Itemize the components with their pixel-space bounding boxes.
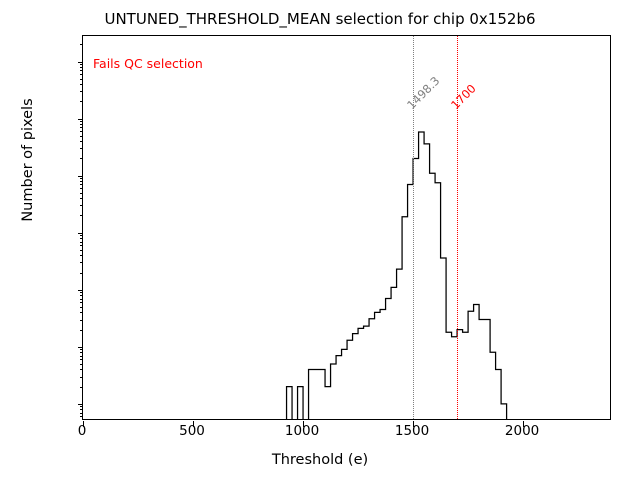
y-tick-minor [80, 127, 83, 128]
y-tick-minor [80, 349, 83, 350]
y-tick-minor [80, 273, 83, 274]
y-tick-minor [80, 356, 83, 357]
y-tick-minor [80, 330, 83, 331]
y-tick-minor [80, 136, 83, 137]
y-tick-minor [80, 406, 83, 407]
y-tick-minor [80, 295, 83, 296]
y-tick-minor [80, 307, 83, 308]
y-tick-minor [80, 158, 83, 159]
plot-clip [83, 36, 610, 419]
y-tick-minor [80, 141, 83, 142]
y-tick-minor [80, 188, 83, 189]
x-tick-label: 2000 [505, 423, 539, 439]
x-tick-label: 1000 [285, 423, 319, 439]
y-tick-minor [80, 299, 83, 300]
x-tick-label: 1500 [395, 423, 429, 439]
y-tick-minor [80, 409, 83, 410]
y-tick-minor [80, 70, 83, 71]
y-tick-minor [80, 193, 83, 194]
y-tick-minor [80, 387, 83, 388]
x-tick-label: 500 [179, 423, 205, 439]
y-tick-minor [80, 121, 83, 122]
y-tick-minor [80, 413, 83, 414]
y-tick-minor [80, 377, 83, 378]
histogram-figure: UNTUNED_THRESHOLD_MEAN selection for chi… [0, 0, 640, 480]
y-tick-minor [80, 124, 83, 125]
y-tick-minor [80, 44, 83, 45]
y-tick-major [78, 404, 84, 405]
y-tick-minor [80, 292, 83, 293]
y-tick-minor [80, 320, 83, 321]
y-tick-minor [80, 238, 83, 239]
y-axis-label: Number of pixels [20, 80, 36, 240]
y-tick-minor [80, 255, 83, 256]
y-tick-minor [80, 312, 83, 313]
y-tick-minor [80, 74, 83, 75]
y-tick-minor [80, 302, 83, 303]
histogram-step-curve [83, 36, 610, 419]
y-tick-major [78, 347, 84, 348]
page-title: UNTUNED_THRESHOLD_MEAN selection for chi… [0, 10, 640, 28]
y-tick-minor [80, 131, 83, 132]
y-tick-minor [80, 262, 83, 263]
y-tick-minor [80, 181, 83, 182]
y-tick-major [78, 119, 84, 120]
x-tick-label: 0 [78, 423, 87, 439]
y-tick-minor [80, 205, 83, 206]
x-axis-label: Threshold (e) [0, 452, 640, 468]
y-tick-minor [80, 359, 83, 360]
y-tick-major [78, 233, 84, 234]
y-tick-minor [80, 198, 83, 199]
y-tick-minor [80, 245, 83, 246]
histogram-outline [287, 132, 513, 419]
y-tick-minor [80, 79, 83, 80]
y-tick-major [78, 290, 84, 291]
y-tick-minor [80, 242, 83, 243]
y-tick-minor [80, 67, 83, 68]
y-tick-minor [80, 235, 83, 236]
y-tick-minor [80, 369, 83, 370]
y-tick-minor [80, 352, 83, 353]
y-tick-minor [80, 101, 83, 102]
y-tick-minor [80, 416, 83, 417]
y-tick-minor [80, 148, 83, 149]
y-tick-minor [80, 184, 83, 185]
y-tick-minor [80, 84, 83, 85]
plot-area: Fails QC selection [82, 35, 611, 420]
y-tick-minor [80, 91, 83, 92]
y-tick-major [78, 62, 84, 63]
y-tick-minor [80, 215, 83, 216]
y-tick-minor [80, 64, 83, 65]
y-tick-minor [80, 250, 83, 251]
y-tick-minor [80, 364, 83, 365]
y-tick-major [78, 176, 84, 177]
y-tick-minor [80, 178, 83, 179]
